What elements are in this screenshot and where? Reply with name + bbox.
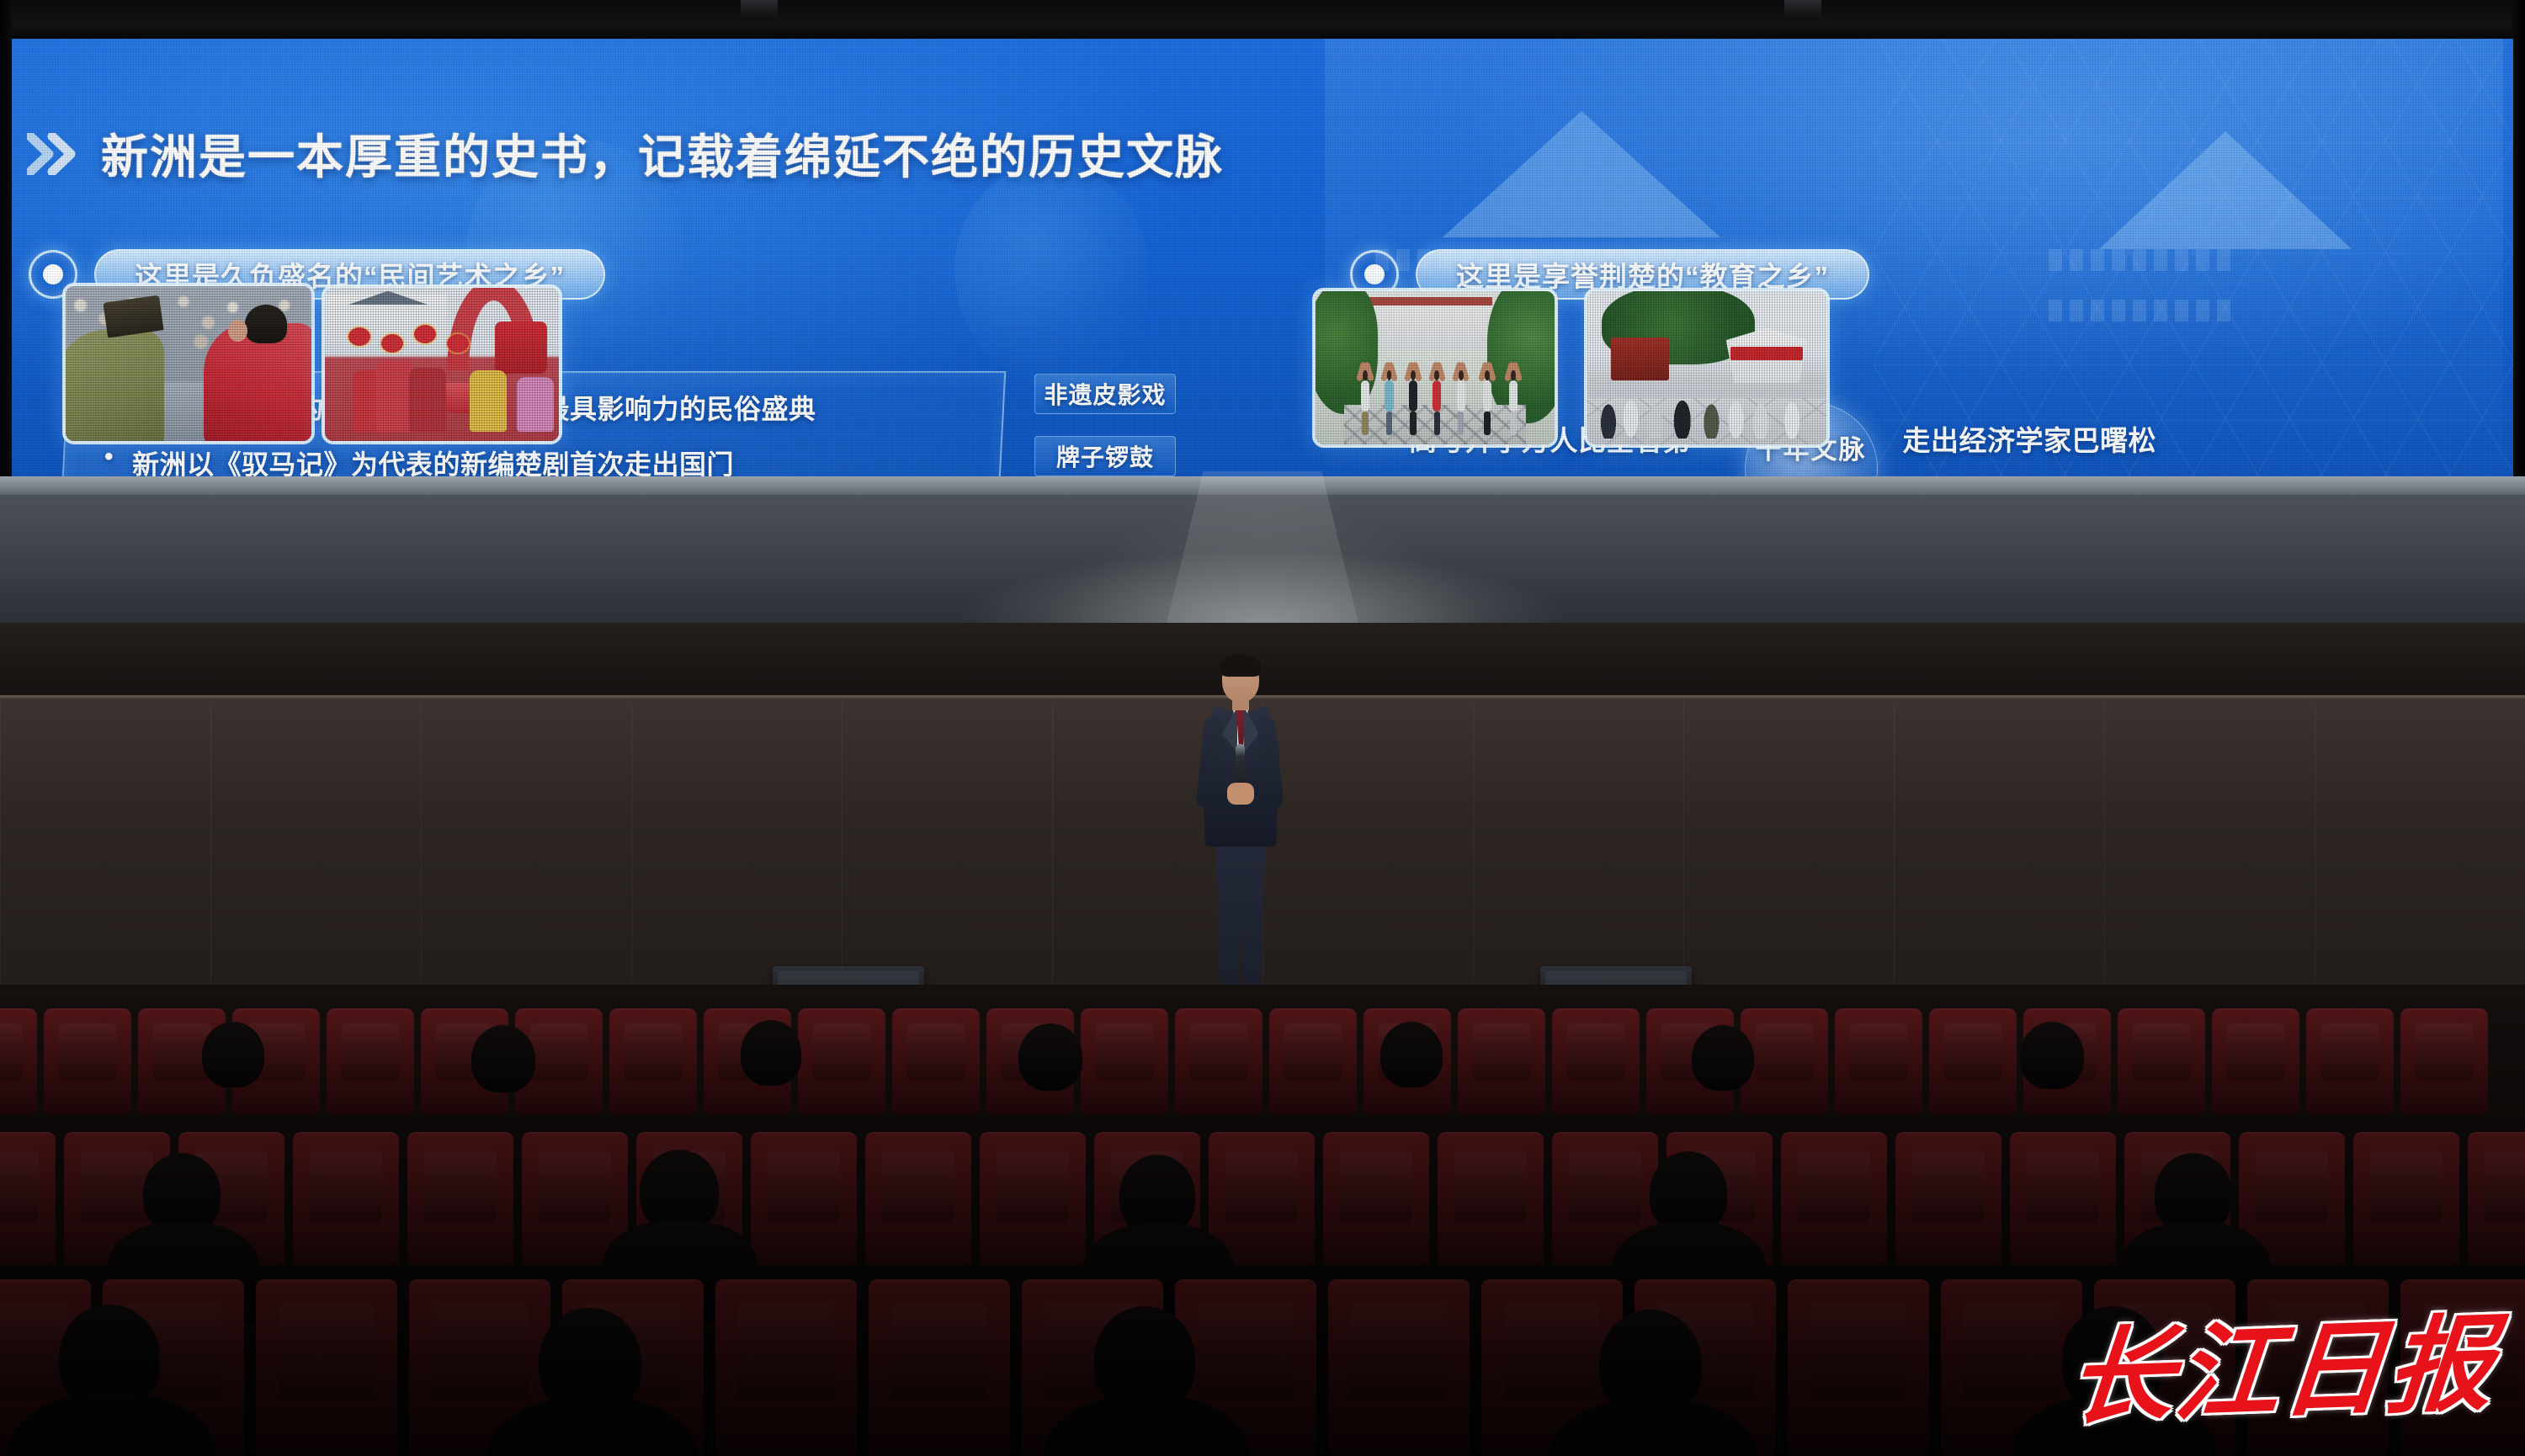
auditorium-scene: 新洲是一本厚重的史书，记载着绵延不绝的历史文脉 这里是久负盛名的“民间艺术之乡”…	[0, 0, 2525, 1456]
audience-head	[1018, 1023, 1082, 1091]
bullet-marker: •	[104, 444, 114, 470]
led-presentation-screen: 新洲是一本厚重的史书，记载着绵延不绝的历史文脉 这里是久负盛名的“民间艺术之乡”…	[12, 39, 2513, 476]
audience-area	[0, 985, 2525, 1456]
bullet-text: 新洲以《驭马记》为代表的新编楚剧首次走出国门	[132, 444, 734, 476]
background-tree	[954, 165, 1148, 384]
audience-head	[2020, 1022, 2084, 1089]
audience-head	[471, 1025, 535, 1092]
education-stat-line: 走出经济学家巴曙松	[1903, 418, 2157, 459]
tag-item[interactable]: 牌子锣鼓	[1034, 436, 1176, 476]
audience-head	[1692, 1025, 1754, 1091]
audience-head	[1380, 1022, 1443, 1087]
education-right-column: 走出经济学家巴曙松 俄罗斯院士童杏林等	[1903, 418, 2157, 476]
ceiling-fixture	[1784, 0, 1821, 19]
list-item: • 新洲以《驭马记》为代表的新编楚剧首次走出国门	[104, 444, 816, 476]
stage-screen-lip	[0, 476, 2525, 495]
microphone-icon	[1236, 744, 1245, 788]
audience-head	[202, 1022, 264, 1087]
ceiling-fixture	[741, 0, 778, 19]
hall-ceiling	[0, 0, 2525, 39]
stage-floor	[0, 495, 2525, 623]
slide-title-row: 新洲是一本厚重的史书，记载着绵延不绝的历史文脉	[27, 120, 1224, 188]
photo-chu-opera-performance	[62, 283, 315, 444]
photo-huachao-festival-parade	[322, 284, 562, 444]
seat-row	[0, 1008, 2525, 1114]
presenter-hands	[1227, 783, 1254, 805]
double-chevron-right-icon	[27, 133, 79, 175]
photo-students-jumping	[1312, 288, 1558, 448]
audience-head	[741, 1020, 801, 1086]
presenter-trousers	[1214, 843, 1268, 996]
page-title: 新洲是一本厚重的史书，记载着绵延不绝的历史文脉	[101, 120, 1224, 188]
presenter-speaker	[1193, 656, 1286, 1027]
tag-item[interactable]: 非遗皮影戏	[1034, 374, 1176, 414]
presenter-hair	[1220, 655, 1261, 677]
photo-gaokao-exam-site	[1584, 288, 1830, 448]
tag-stack-folk-art: 非遗皮影戏 牌子锣鼓 高跷狮子	[1034, 374, 1176, 476]
